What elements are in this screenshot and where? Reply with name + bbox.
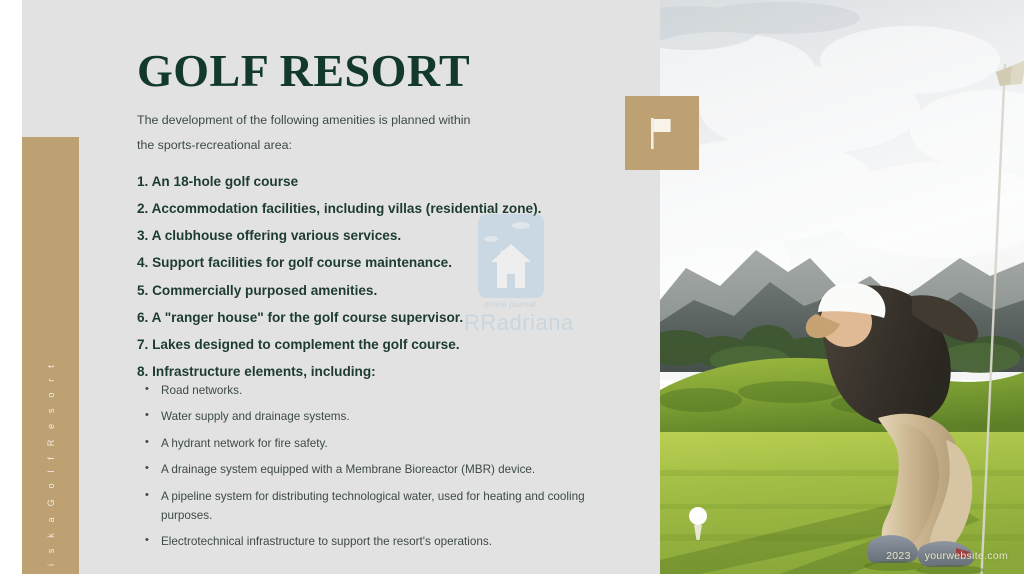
list-item: Road networks. <box>139 382 629 401</box>
list-item: 2. Accommodation facilities, including v… <box>137 195 617 222</box>
list-item: Electrotechnical infrastructure to suppo… <box>139 533 629 552</box>
list-item: 6. A "ranger house" for the golf course … <box>137 304 617 331</box>
list-item: 7. Lakes designed to complement the golf… <box>137 331 617 358</box>
list-item: 1. An 18-hole golf course <box>137 168 617 195</box>
content-area: GOLF RESORT The development of the follo… <box>137 0 637 574</box>
list-item: A hydrant network for fire safety. <box>139 435 629 454</box>
list-item: A drainage system equipped with a Membra… <box>139 461 629 480</box>
page-title: GOLF RESORT <box>137 48 470 94</box>
footer-website[interactable]: yourwebsite.com <box>925 550 1008 562</box>
footer-year: 2023 <box>886 550 911 562</box>
flag-badge <box>625 96 699 170</box>
footer: 2023 yourwebsite.com <box>886 550 1008 562</box>
sidebar-vertical-label: B i s k a G o l f R e s o r t <box>46 361 56 574</box>
list-item: A pipeline system for distributing techn… <box>139 488 629 526</box>
list-item: 5. Commercially purposed amenities. <box>137 277 617 304</box>
list-item: 4. Support facilities for golf course ma… <box>137 250 617 277</box>
bullet-list: Road networks. Water supply and drainage… <box>139 382 629 560</box>
numbered-list: 1. An 18-hole golf course 2. Accommodati… <box>137 168 617 386</box>
intro-line-1: The development of the following ameniti… <box>137 108 537 133</box>
list-item: Water supply and drainage systems. <box>139 408 629 427</box>
golf-photo-image <box>660 0 1024 574</box>
intro-line-2: the sports-recreational area: <box>137 133 537 158</box>
golf-photo: 2023 yourwebsite.com <box>660 0 1024 574</box>
golf-flag-icon <box>646 116 678 150</box>
list-item: 3. A clubhouse offering various services… <box>137 222 617 249</box>
slide: B i s k a G o l f R e s o r t 3 GOLF RES… <box>0 0 1024 574</box>
intro-paragraph: The development of the following ameniti… <box>137 108 537 159</box>
sidebar: B i s k a G o l f R e s o r t 3 <box>22 137 79 574</box>
